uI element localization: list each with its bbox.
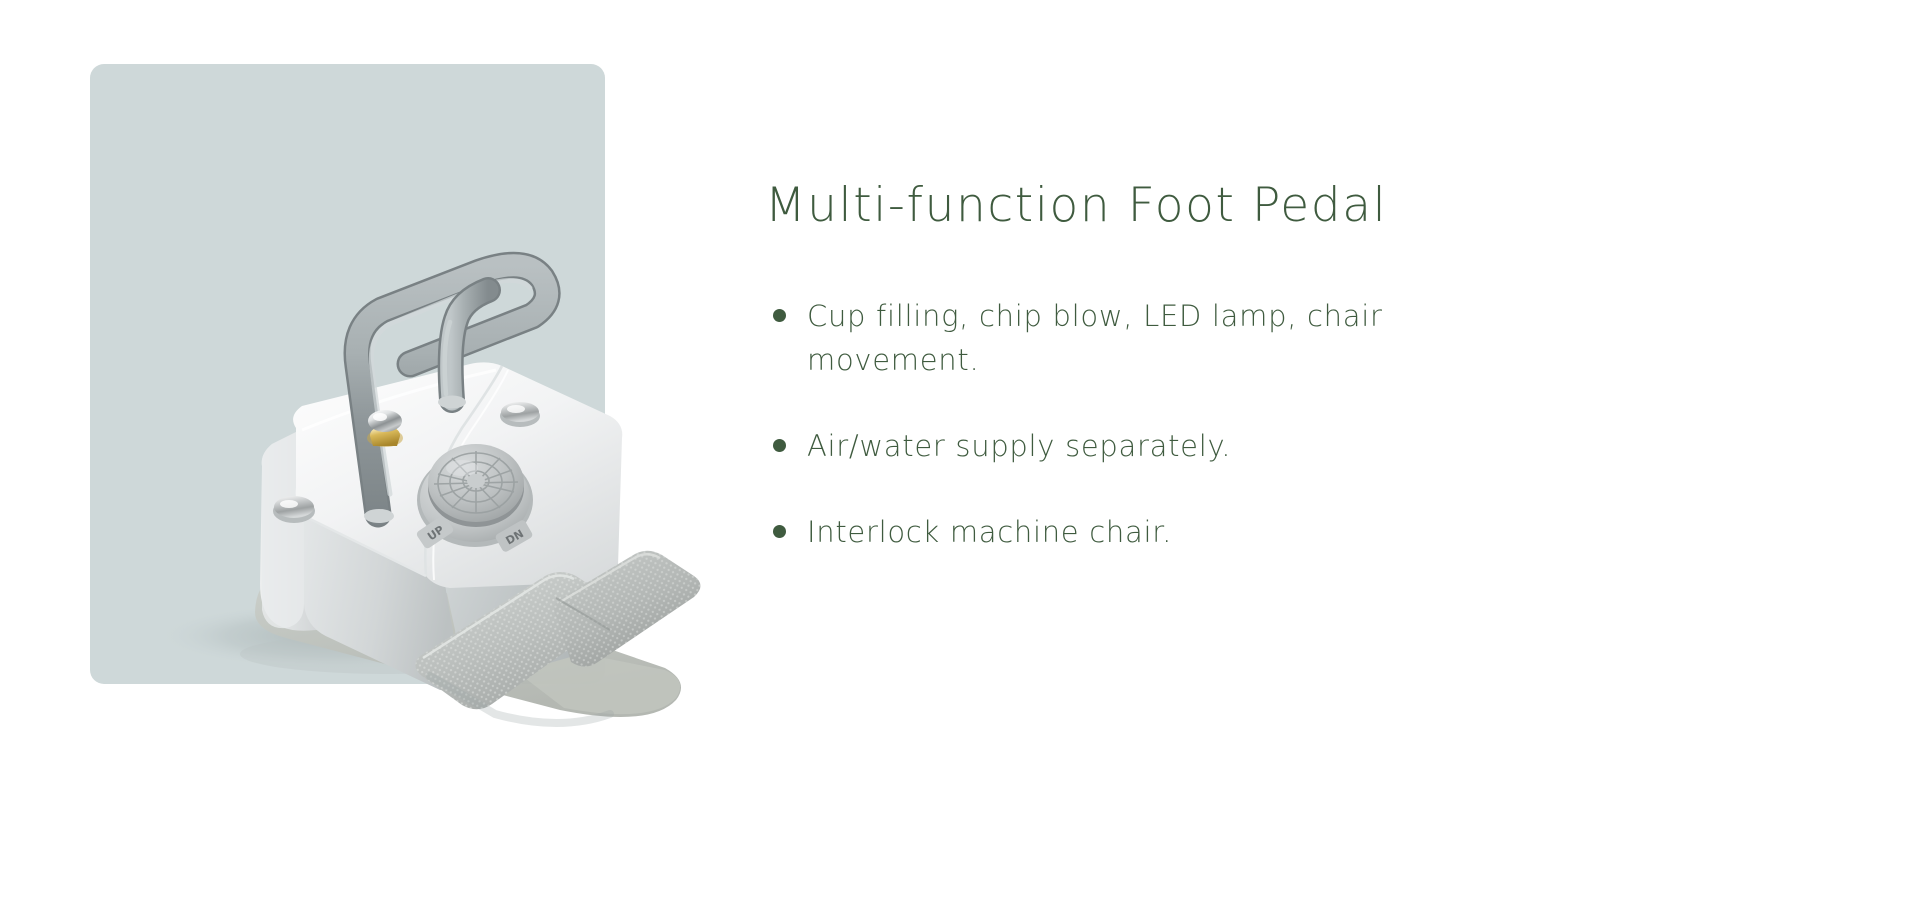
feature-text: Interlock machine chair. [807, 515, 1172, 549]
page-title: Multi-function Foot Pedal [765, 180, 1525, 232]
feature-list: Cup filling, chip blow, LED lamp, chair … [765, 294, 1525, 554]
feature-text: Cup filling, chip blow, LED lamp, chair … [807, 299, 1383, 377]
foot-pedal-photo: UP DN [90, 64, 730, 744]
feature-text: Air/water supply separately. [807, 429, 1231, 463]
product-copy: Multi-function Foot Pedal Cup filling, c… [765, 180, 1525, 554]
bullet-icon [773, 525, 786, 538]
feature-item: Air/water supply separately. [765, 424, 1467, 468]
feature-item: Interlock machine chair. [765, 510, 1467, 554]
product-image-panel: UP DN [90, 64, 605, 684]
bullet-icon [773, 439, 786, 452]
bullet-icon [773, 309, 786, 322]
feature-item: Cup filling, chip blow, LED lamp, chair … [765, 294, 1467, 382]
